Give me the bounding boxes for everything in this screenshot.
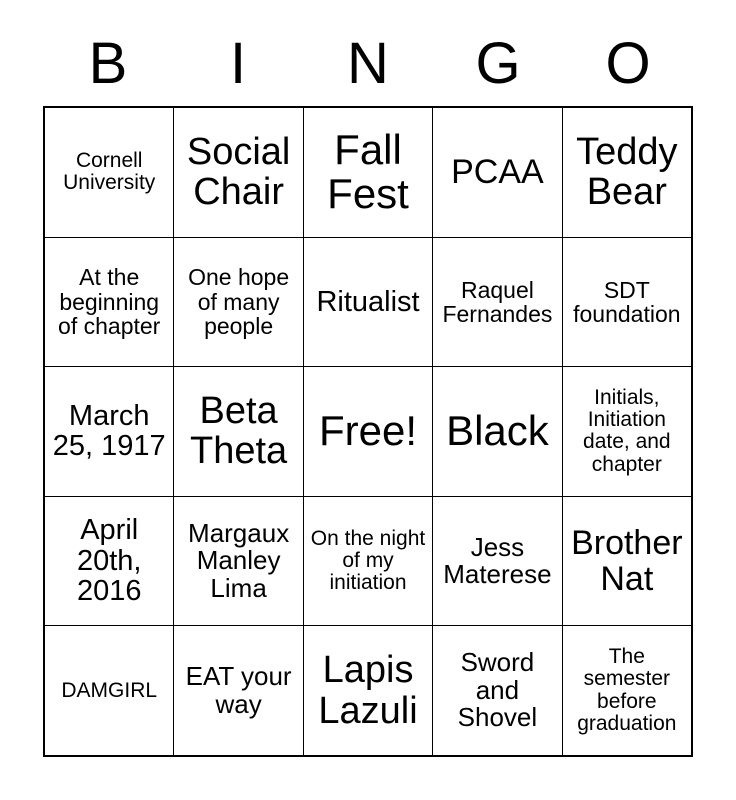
bingo-row: April 20th, 2016 Margaux Manley Lima On … xyxy=(45,497,691,627)
bingo-cell-label: Black xyxy=(436,409,558,454)
bingo-card: B I N G O Cornell University Social Chai… xyxy=(0,0,736,800)
bingo-cell[interactable]: Social Chair xyxy=(174,108,303,237)
bingo-cell-free[interactable]: Free! xyxy=(304,367,433,496)
bingo-cell-label: Margaux Manley Lima xyxy=(177,520,299,603)
bingo-cell[interactable]: Initials, Initiation date, and chapter xyxy=(563,367,691,496)
bingo-cell[interactable]: SDT foundation xyxy=(563,238,691,367)
bingo-cell-label: Sword and Shovel xyxy=(436,649,558,732)
bingo-row: March 25, 1917 Beta Theta Free! Black In… xyxy=(45,367,691,497)
bingo-cell-label: On the night of my initiation xyxy=(307,528,429,595)
bingo-row: Cornell University Social Chair Fall Fes… xyxy=(45,108,691,238)
bingo-cell-label: Teddy Bear xyxy=(566,132,688,213)
bingo-cell[interactable]: EAT your way xyxy=(174,626,303,755)
bingo-cell-label: April 20th, 2016 xyxy=(48,515,170,607)
header-letter-g: G xyxy=(433,26,563,102)
bingo-row: DAMGIRL EAT your way Lapis Lazuli Sword … xyxy=(45,626,691,755)
bingo-cell[interactable]: Margaux Manley Lima xyxy=(174,497,303,626)
bingo-cell[interactable]: March 25, 1917 xyxy=(45,367,174,496)
bingo-cell[interactable]: Teddy Bear xyxy=(563,108,691,237)
bingo-cell[interactable]: PCAA xyxy=(433,108,562,237)
bingo-cell[interactable]: Fall Fest xyxy=(304,108,433,237)
bingo-cell[interactable]: DAMGIRL xyxy=(45,626,174,755)
bingo-cell[interactable]: Beta Theta xyxy=(174,367,303,496)
bingo-cell-label: Social Chair xyxy=(177,132,299,213)
bingo-header: B I N G O xyxy=(43,26,693,102)
bingo-free-label: Free! xyxy=(307,409,429,454)
bingo-cell-label: EAT your way xyxy=(177,663,299,718)
bingo-cell-label: Jess Materese xyxy=(436,534,558,589)
bingo-cell[interactable]: April 20th, 2016 xyxy=(45,497,174,626)
bingo-cell[interactable]: Raquel Fernandes xyxy=(433,238,562,367)
bingo-cell[interactable]: One hope of many people xyxy=(174,238,303,367)
bingo-cell-label: Fall Fest xyxy=(307,128,429,217)
bingo-cell-label: Initials, Initiation date, and chapter xyxy=(566,387,688,476)
header-letter-i: I xyxy=(173,26,303,102)
bingo-cell-label: Raquel Fernandes xyxy=(436,278,558,327)
bingo-cell-label: Cornell University xyxy=(48,150,170,195)
bingo-cell[interactable]: Ritualist xyxy=(304,238,433,367)
bingo-cell-label: PCAA xyxy=(436,154,558,190)
bingo-cell[interactable]: Brother Nat xyxy=(563,497,691,626)
bingo-row: At the beginning of chapter One hope of … xyxy=(45,238,691,368)
header-letter-b: B xyxy=(43,26,173,102)
bingo-cell[interactable]: Sword and Shovel xyxy=(433,626,562,755)
bingo-cell[interactable]: At the beginning of chapter xyxy=(45,238,174,367)
bingo-cell-label: At the beginning of chapter xyxy=(48,265,170,338)
bingo-cell-label: Beta Theta xyxy=(177,391,299,472)
header-letter-o: O xyxy=(563,26,693,102)
bingo-cell[interactable]: Black xyxy=(433,367,562,496)
bingo-cell-label: DAMGIRL xyxy=(48,680,170,702)
bingo-cell-label: Lapis Lazuli xyxy=(307,650,429,731)
header-letter-n: N xyxy=(303,26,433,102)
bingo-cell-label: One hope of many people xyxy=(177,265,299,338)
bingo-cell-label: SDT foundation xyxy=(566,278,688,327)
bingo-cell[interactable]: Lapis Lazuli xyxy=(304,626,433,755)
bingo-grid: Cornell University Social Chair Fall Fes… xyxy=(43,106,693,757)
bingo-cell[interactable]: The semester before graduation xyxy=(563,626,691,755)
bingo-cell-label: March 25, 1917 xyxy=(48,401,170,462)
bingo-cell-label: Brother Nat xyxy=(566,525,688,597)
bingo-cell-label: Ritualist xyxy=(307,287,429,318)
bingo-cell-label: The semester before graduation xyxy=(566,646,688,735)
bingo-cell[interactable]: Jess Materese xyxy=(433,497,562,626)
bingo-cell[interactable]: On the night of my initiation xyxy=(304,497,433,626)
bingo-cell[interactable]: Cornell University xyxy=(45,108,174,237)
